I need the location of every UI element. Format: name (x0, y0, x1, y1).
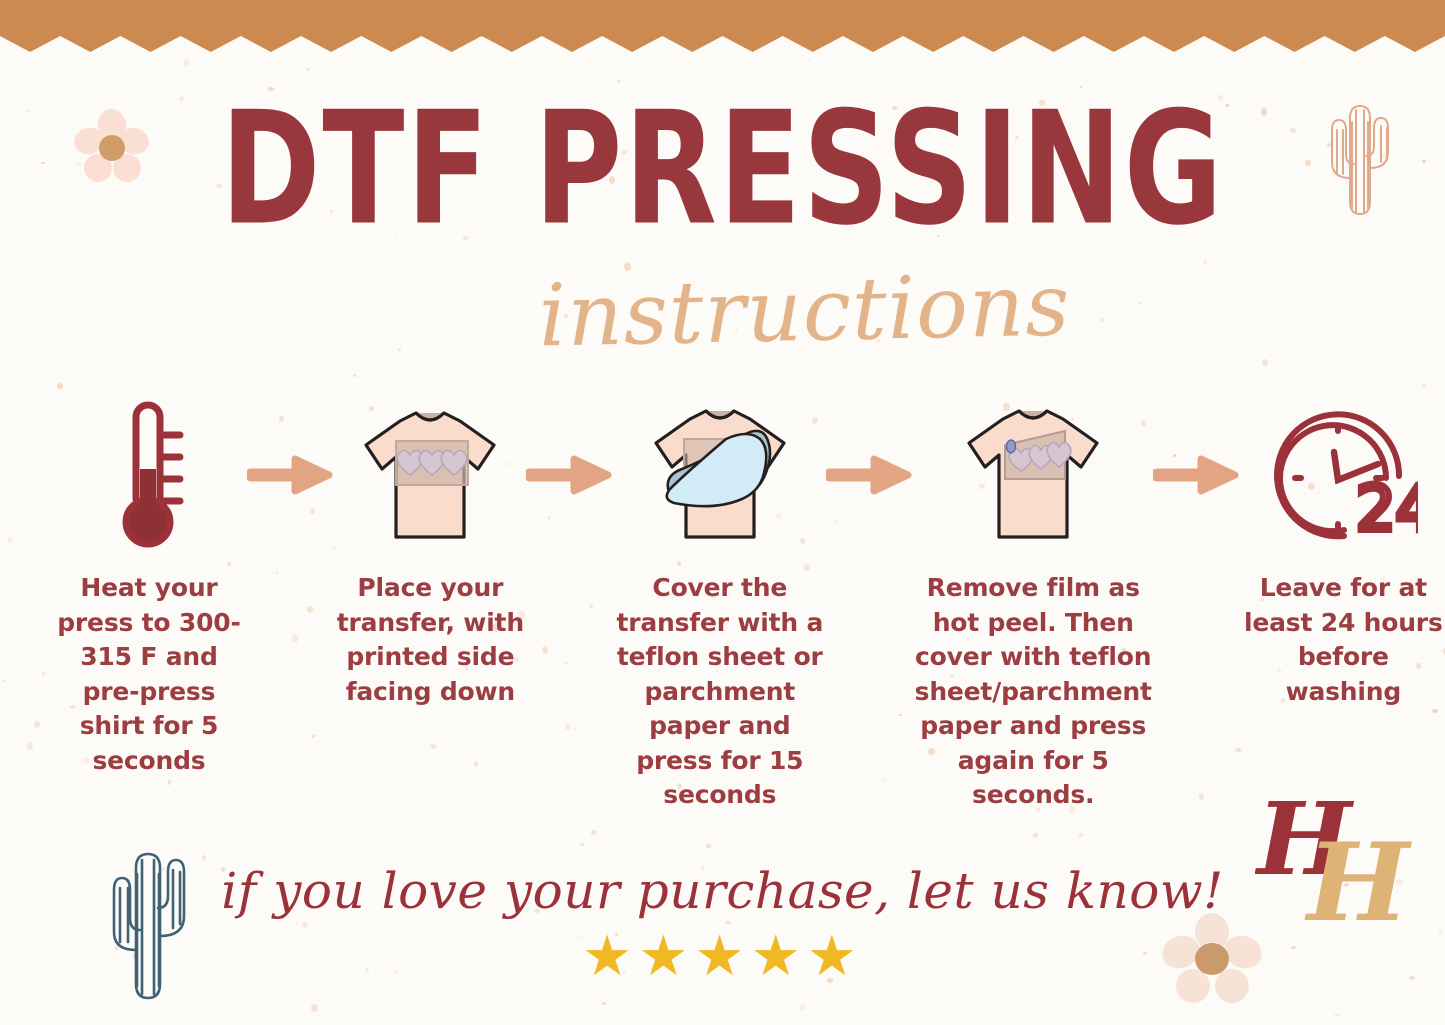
arrow-3 (825, 392, 915, 557)
step-5-text: Leave for at least 24 hours before washi… (1242, 571, 1445, 709)
page-title: DTF PRESSING (43, 92, 1401, 248)
footer-tagline: if you love your purchase, let us know! (0, 862, 1445, 920)
step-1: Heat your press to 300-315 F and pre-pre… (52, 392, 246, 778)
thermometer-icon (104, 392, 194, 557)
page-title-block: DTF PRESSING instructions (0, 92, 1445, 354)
tshirt-peel-film-icon (953, 392, 1113, 557)
step-2-text: Place your transfer, with printed side f… (336, 571, 525, 709)
arrow-2 (525, 392, 615, 557)
step-1-text: Heat your press to 300-315 F and pre-pre… (52, 571, 246, 778)
page-subtitle: instructions (81, 253, 1445, 369)
tshirt-teflon-cover-icon (640, 392, 800, 557)
step-4-text: Remove film as hot peel. Then cover with… (915, 571, 1152, 813)
step-4: Remove film as hot peel. Then cover with… (915, 392, 1152, 813)
step-5: 24 Leave for at least 24 hours before wa… (1242, 392, 1445, 709)
arrow-4 (1152, 392, 1242, 557)
poster-canvas: DTF PRESSING instructions (0, 0, 1445, 1025)
clock-badge-label: 24 (1356, 472, 1418, 545)
steps-row: Heat your press to 300-315 F and pre-pre… (0, 392, 1445, 862)
step-3: Cover the transfer with a teflon sheet o… (615, 392, 825, 813)
arrow-1 (246, 392, 336, 557)
tshirt-transfer-icon (354, 392, 506, 557)
step-2: Place your transfer, with printed side f… (336, 392, 525, 709)
star-rating: ★★★★★ (0, 928, 1445, 984)
top-zigzag-banner (0, 0, 1445, 52)
clock-24-icon: 24 (1268, 392, 1418, 557)
step-3-text: Cover the transfer with a teflon sheet o… (615, 571, 825, 813)
